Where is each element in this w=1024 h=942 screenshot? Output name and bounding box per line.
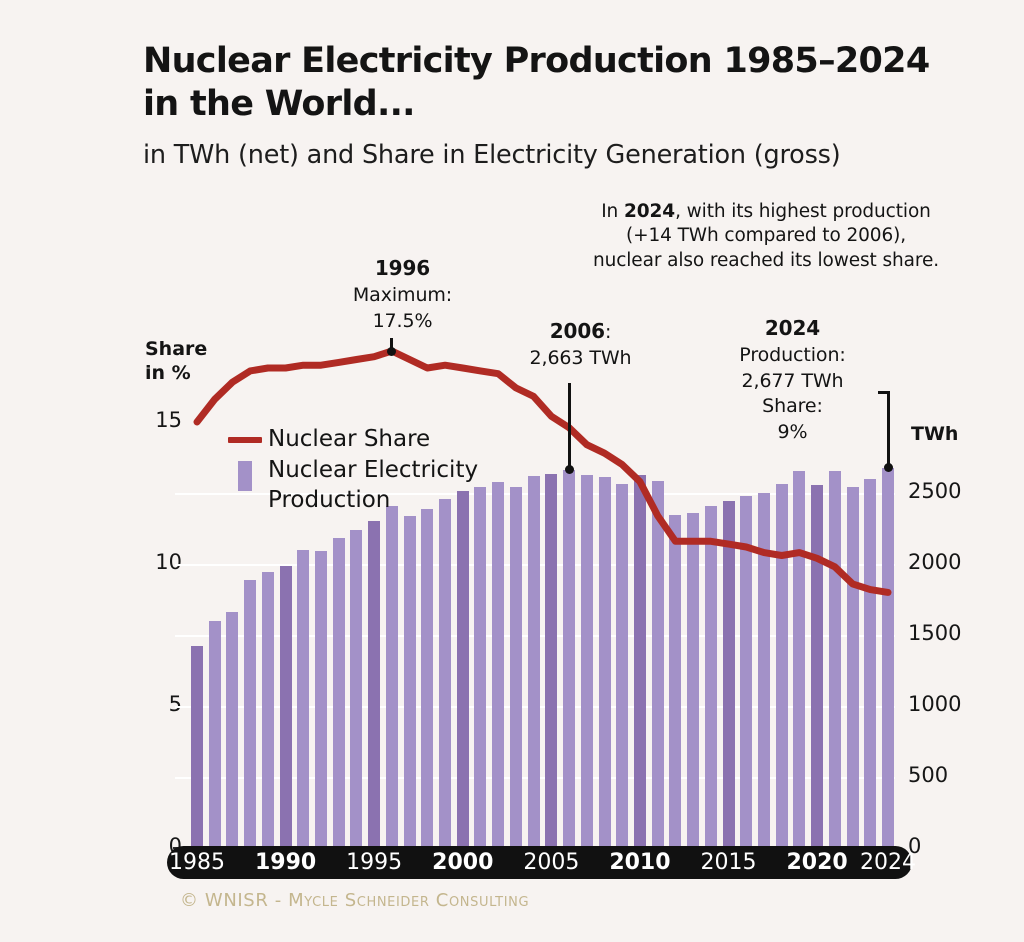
- leader-line-2024-horizontal: [878, 391, 890, 394]
- x-tick-2015: 2015: [687, 850, 771, 875]
- x-tick-1985: 1985: [155, 850, 239, 875]
- legend-line-swatch: [222, 425, 268, 443]
- legend-bar-swatch: [222, 456, 268, 491]
- leader-line-2006: [568, 383, 571, 470]
- marker-1996: [387, 347, 396, 356]
- x-tick-1990: 1990: [244, 850, 328, 875]
- right-tick-2500: 2500: [908, 479, 974, 503]
- marker-2024: [884, 463, 893, 472]
- right-tick-1500: 1500: [908, 621, 974, 645]
- right-axis-title: TWh: [911, 423, 958, 445]
- legend-item-share: Nuclear Share: [222, 425, 478, 454]
- footer-credit: © WNISR - Mycle Schneider Consulting: [180, 890, 529, 911]
- x-tick-2010: 2010: [598, 850, 682, 875]
- page-title: Nuclear Electricity Production 1985–2024…: [143, 40, 963, 125]
- right-tick-500: 500: [908, 763, 974, 787]
- x-tick-1995: 1995: [332, 850, 416, 875]
- x-tick-2005: 2005: [509, 850, 593, 875]
- chart-legend: Nuclear Share Nuclear Electricity Produc…: [222, 425, 478, 517]
- page-subtitle: in TWh (net) and Share in Electricity Ge…: [143, 140, 1003, 170]
- legend-item-production: Nuclear Electricity Production: [222, 456, 478, 515]
- leader-line-2024-vertical: [887, 391, 890, 468]
- x-tick-2000: 2000: [421, 850, 505, 875]
- right-tick-2000: 2000: [908, 550, 974, 574]
- marker-2006: [565, 465, 574, 474]
- legend-label-production: Nuclear Electricity Production: [268, 456, 478, 515]
- right-tick-1000: 1000: [908, 692, 974, 716]
- x-axis-bar: 198519901995200020052010201520202024: [167, 846, 912, 879]
- x-tick-2024: 2024: [846, 850, 930, 875]
- legend-label-share: Nuclear Share: [268, 425, 430, 454]
